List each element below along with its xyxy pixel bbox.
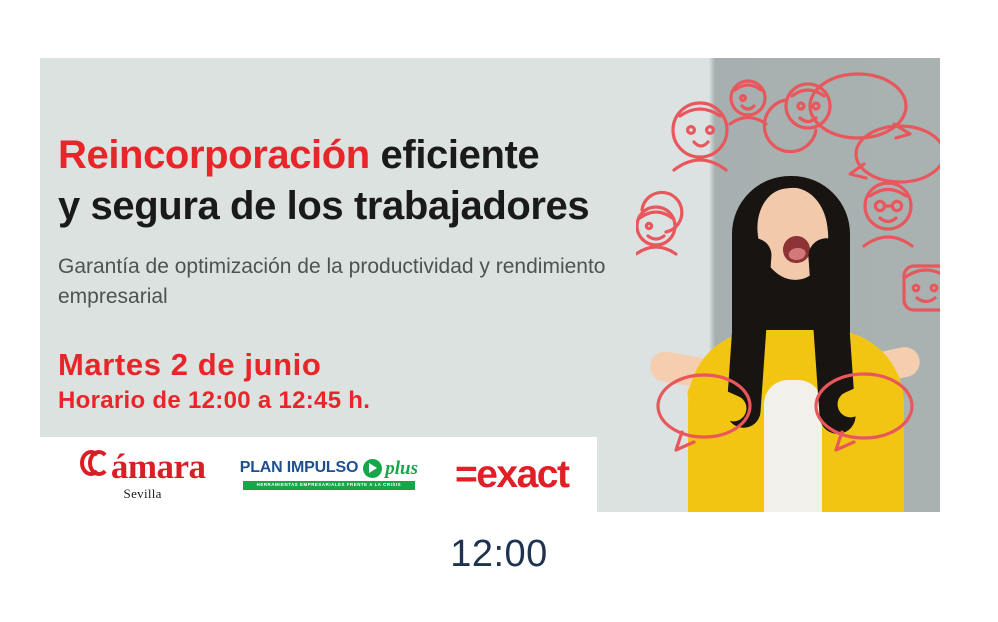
event-banner: Reincorporación eficiente y segura de lo… — [40, 58, 940, 512]
sponsor-logo-strip: ámara Sevilla PLAN IMPULSO plus HERRAMIE… — [40, 437, 597, 512]
camara-double-c-icon — [80, 448, 110, 478]
logo-camara-sevilla: ámara Sevilla — [40, 448, 233, 502]
banner-text-block: Reincorporación eficiente y segura de lo… — [58, 130, 658, 416]
event-date-block: Martes 2 de junio Horario de 12:00 a 12:… — [58, 348, 658, 416]
camara-city-label: Sevilla — [124, 486, 162, 502]
camara-wordmark: ámara — [111, 449, 206, 484]
logo-plan-impulso-plus: PLAN IMPULSO plus HERRAMIENTAS EMPRESARI… — [233, 459, 424, 490]
event-date: Martes 2 de junio — [58, 348, 658, 382]
headline-highlight: Reincorporación — [58, 133, 370, 177]
impulso-tagline: HERRAMIENTAS EMPRESARIALES FRENTE A LA C… — [243, 481, 415, 490]
headline-line-1-rest: eficiente — [370, 133, 539, 177]
event-schedule: Horario de 12:00 a 12:45 h. — [58, 386, 658, 416]
impulso-wordmark: PLAN IMPULSO — [240, 460, 359, 476]
logo-exact: =exact — [424, 455, 597, 494]
camara-wordmark-row: ámara — [80, 448, 206, 484]
headline-line-2: y segura de los trabajadores — [58, 181, 658, 232]
exact-wordmark: =exact — [455, 455, 569, 494]
woman-shirt — [764, 380, 822, 512]
impulso-plus-wordmark: plus — [385, 459, 418, 478]
time-display: 12:00 — [0, 533, 998, 576]
impulso-wordmark-row: PLAN IMPULSO plus — [240, 459, 418, 478]
headline-line-1: Reincorporación eficiente — [58, 130, 658, 181]
impulso-play-circle-icon — [363, 459, 382, 478]
banner-photo — [636, 58, 940, 512]
banner-subtitle: Garantía de optimización de la productiv… — [58, 252, 658, 312]
